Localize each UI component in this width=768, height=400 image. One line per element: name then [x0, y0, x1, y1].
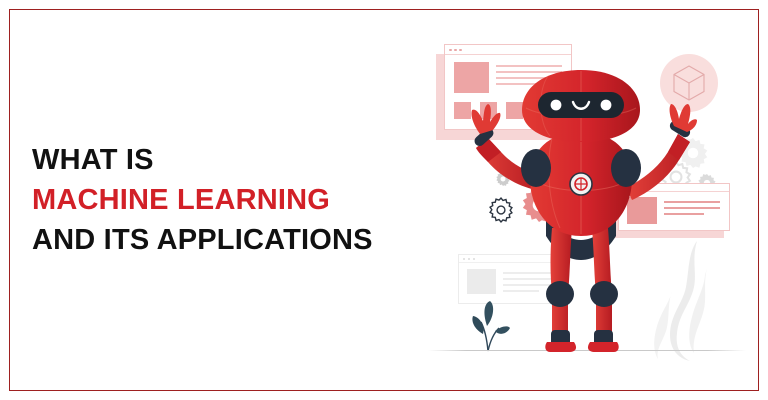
window-dot-icon — [449, 49, 452, 52]
headline-line-2: MACHINE LEARNING — [32, 180, 392, 220]
window-dot-icon — [459, 49, 462, 52]
robot-eye-right — [601, 100, 612, 111]
robot-eye-left — [551, 100, 562, 111]
robot-legs — [545, 216, 618, 352]
headline-line-1: WHAT IS — [32, 140, 392, 180]
page-title: WHAT IS MACHINE LEARNING AND ITS APPLICA… — [32, 140, 392, 260]
card-text-line — [496, 65, 562, 67]
banner-root: WHAT IS MACHINE LEARNING AND ITS APPLICA… — [0, 0, 768, 400]
illustration-stage — [410, 20, 758, 380]
window-dot-icon — [454, 49, 457, 52]
headline-line-3: AND ITS APPLICATIONS — [32, 220, 392, 260]
robot-figure — [468, 68, 698, 358]
robot-head — [522, 70, 640, 142]
window-dot-icon — [463, 258, 465, 260]
browser-card-primary-titlebar — [445, 45, 571, 55]
